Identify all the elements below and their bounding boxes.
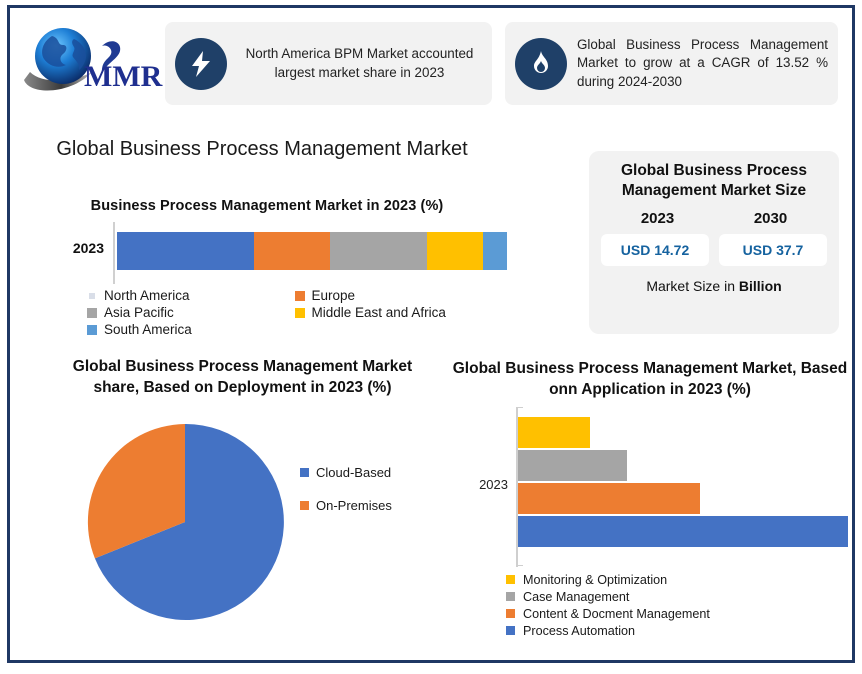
highlight-text-north-america: North America BPM Market accounted large… <box>237 45 482 82</box>
market-size-unit-note: Market Size in Billion <box>601 278 827 294</box>
legend-item-south-america: South America <box>87 322 295 337</box>
legend-item-asia-pacific: Asia Pacific <box>87 305 295 320</box>
mmr-globe-logo: MMR <box>18 20 163 105</box>
segment-europe <box>254 232 330 270</box>
pie-svg <box>70 407 300 637</box>
stacked-bar-track <box>117 232 507 270</box>
stacked-bar-category-label: 2023 <box>32 240 104 256</box>
market-size-years: 2023 2030 <box>601 210 827 227</box>
legend-item-case-management: Case Management <box>506 590 850 604</box>
legend-label-case-management: Case Management <box>523 590 629 604</box>
legend-swatch-monitoring-optimization <box>506 575 515 584</box>
legend-swatch-north-america <box>89 293 95 299</box>
application-category-label: 2023 <box>450 477 508 492</box>
legend-item-content-document-management: Content & Docment Management <box>506 607 850 621</box>
highlight-text-cagr: Global Business Process Management Marke… <box>577 36 828 92</box>
bolt-icon <box>175 38 227 90</box>
application-plot-area: 2023 <box>450 407 850 567</box>
application-legend: Monitoring & Optimization Case Managemen… <box>506 573 850 638</box>
legend-label-north-america: North America <box>104 288 190 303</box>
pie-chart-title: Global Business Process Management Marke… <box>70 356 415 399</box>
legend-item-middle-east-africa: Middle East and Africa <box>295 305 503 320</box>
market-size-value-2030: USD 37.7 <box>719 234 827 266</box>
market-size-year-2030: 2030 <box>714 210 827 227</box>
pie-plot-area: Cloud-Based On-Premises <box>70 407 430 637</box>
stacked-bar-legend: North America Europe Asia Pacific Middle… <box>87 288 502 339</box>
application-bars <box>518 417 848 549</box>
bar-monitoring-optimization <box>518 417 590 448</box>
legend-label-cloud-based: Cloud-Based <box>316 465 391 480</box>
segment-north-america <box>117 232 254 270</box>
market-size-value-2023: USD 14.72 <box>601 234 709 266</box>
bar-process-automation <box>518 516 848 547</box>
bar-content-document-management <box>518 483 700 514</box>
market-size-card: Global Business Process Management Marke… <box>589 151 839 334</box>
page-title: Global Business Process Management Marke… <box>32 136 492 162</box>
legend-label-process-automation: Process Automation <box>523 624 635 638</box>
legend-swatch-middle-east-africa <box>295 308 305 318</box>
legend-swatch-process-automation <box>506 626 515 635</box>
header-row: MMR North America BPM Market accounted l… <box>10 8 852 118</box>
legend-label-content-document-management: Content & Docment Management <box>523 607 710 621</box>
market-size-unit-prefix: Market Size in <box>646 278 739 294</box>
legend-label-asia-pacific: Asia Pacific <box>104 305 174 320</box>
segment-middle-east-africa <box>427 232 483 270</box>
application-chart-title: Global Business Process Management Marke… <box>450 358 850 401</box>
legend-swatch-cloud-based <box>300 468 309 477</box>
highlight-card-cagr: Global Business Process Management Marke… <box>505 22 838 105</box>
flame-icon <box>515 38 567 90</box>
deployment-pie-chart: Global Business Process Management Marke… <box>70 356 430 666</box>
infographic-frame: MMR North America BPM Market accounted l… <box>7 5 855 663</box>
legend-label-middle-east-africa: Middle East and Africa <box>312 305 446 320</box>
legend-item-cloud-based: Cloud-Based <box>300 465 392 480</box>
legend-swatch-south-america <box>87 325 97 335</box>
logo-wordmark: MMR <box>84 60 163 93</box>
legend-swatch-content-document-management <box>506 609 515 618</box>
legend-swatch-asia-pacific <box>87 308 97 318</box>
application-bar-chart: Global Business Process Management Marke… <box>450 358 850 666</box>
legend-item-process-automation: Process Automation <box>506 624 850 638</box>
application-axis-cap-bottom <box>516 565 523 567</box>
market-size-unit-value: Billion <box>739 278 782 294</box>
legend-item-monitoring-optimization: Monitoring & Optimization <box>506 573 850 587</box>
stacked-bar-title: Business Process Management Market in 20… <box>32 198 502 214</box>
pie-legend: Cloud-Based On-Premises <box>300 465 392 531</box>
legend-item-on-premises: On-Premises <box>300 498 392 513</box>
legend-label-on-premises: On-Premises <box>316 498 392 513</box>
legend-label-south-america: South America <box>104 322 192 337</box>
market-size-year-2023: 2023 <box>601 210 714 227</box>
legend-swatch-europe <box>295 291 305 301</box>
legend-swatch-case-management <box>506 592 515 601</box>
stacked-bar-plot: 2023 <box>32 222 502 284</box>
market-size-values: USD 14.72 USD 37.7 <box>601 234 827 266</box>
segment-asia-pacific <box>330 232 427 270</box>
segment-south-america <box>483 232 507 270</box>
legend-swatch-on-premises <box>300 501 309 510</box>
stacked-bar-axis-line <box>113 222 115 284</box>
bar-case-management <box>518 450 627 481</box>
legend-item-north-america: North America <box>87 288 295 303</box>
legend-label-monitoring-optimization: Monitoring & Optimization <box>523 573 667 587</box>
regional-stacked-bar-chart: Business Process Management Market in 20… <box>32 198 502 343</box>
application-axis-cap-top <box>516 407 523 409</box>
logo-svg: MMR <box>18 20 163 102</box>
highlight-card-north-america: North America BPM Market accounted large… <box>165 22 492 105</box>
legend-item-europe: Europe <box>295 288 503 303</box>
legend-label-europe: Europe <box>312 288 356 303</box>
market-size-title: Global Business Process Management Marke… <box>601 161 827 202</box>
